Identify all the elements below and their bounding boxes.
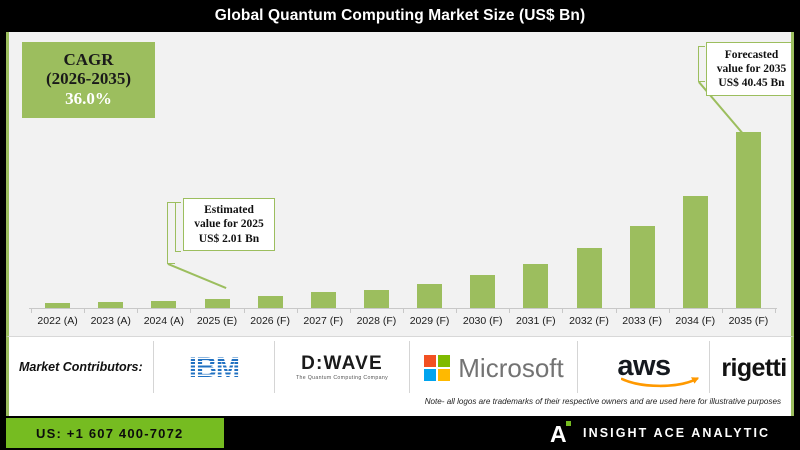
dwave-wordmark: D:WAVE bbox=[296, 354, 388, 373]
logo-dwave: D:WAVE The Quantum Computing Company bbox=[279, 345, 405, 391]
bar-2033 bbox=[630, 226, 655, 308]
x-axis-label-2028: 2028 (F) bbox=[350, 315, 403, 327]
x-axis-label-2029: 2029 (F) bbox=[403, 315, 456, 327]
x-axis-label-2022: 2022 (A) bbox=[31, 315, 84, 327]
x-axis-tick bbox=[297, 308, 298, 313]
chart-panel: 2022 (A)2023 (A)2024 (A)2025 (E)2026 (F)… bbox=[6, 32, 794, 336]
logo-rigetti: rigetti bbox=[715, 345, 793, 391]
title-bar: Global Quantum Computing Market Size (US… bbox=[0, 0, 800, 32]
bar-2029 bbox=[417, 284, 442, 308]
bar-2032 bbox=[577, 248, 602, 308]
microsoft-wordmark: Microsoft bbox=[458, 355, 563, 381]
footer-contact-block: US: +1 607 400-7072 bbox=[6, 418, 224, 448]
divider bbox=[274, 341, 275, 393]
bar-2025 bbox=[205, 299, 230, 308]
x-axis-label-2032: 2032 (F) bbox=[562, 315, 615, 327]
bar-2031 bbox=[523, 264, 548, 308]
divider bbox=[153, 341, 154, 393]
x-axis-tick bbox=[190, 308, 191, 313]
x-axis-tick bbox=[562, 308, 563, 313]
x-axis-tick bbox=[456, 308, 457, 313]
x-axis-tick bbox=[669, 308, 670, 313]
rigetti-wordmark: rigetti bbox=[721, 356, 786, 381]
x-axis-tick bbox=[616, 308, 617, 313]
x-axis-label-2025: 2025 (E) bbox=[190, 315, 243, 327]
insight-ace-a-logo-icon: A bbox=[550, 421, 570, 445]
market-contributors-label: Market Contributors: bbox=[19, 360, 143, 374]
x-axis-label-2035: 2035 (F) bbox=[722, 315, 775, 327]
callout-estimated-line-3: US$ 2.01 Bn bbox=[199, 232, 259, 246]
x-axis-label-2031: 2031 (F) bbox=[509, 315, 562, 327]
bar-2026 bbox=[258, 296, 283, 308]
x-axis-tick bbox=[722, 308, 723, 313]
x-axis-tick bbox=[509, 308, 510, 313]
x-axis-tick bbox=[31, 308, 32, 313]
x-axis-label-2034: 2034 (F) bbox=[669, 315, 722, 327]
ibm-wordmark: IBM bbox=[189, 354, 239, 383]
x-axis-tick bbox=[350, 308, 351, 313]
logo-ibm: IBM bbox=[159, 345, 269, 391]
bar-2030 bbox=[470, 275, 495, 308]
x-axis-label-2030: 2030 (F) bbox=[456, 315, 509, 327]
x-axis-label-2023: 2023 (A) bbox=[84, 315, 137, 327]
cagr-line-2: (2026-2035) bbox=[46, 69, 131, 88]
bar-2034 bbox=[683, 196, 708, 308]
divider bbox=[709, 341, 710, 393]
callout-bracket-outer-2025 bbox=[167, 202, 175, 264]
x-axis-label-2033: 2033 (F) bbox=[616, 315, 669, 327]
market-contributors-band: Market Contributors: IBM D:WAVE The Quan… bbox=[6, 336, 794, 416]
bar-2028 bbox=[364, 290, 389, 308]
callout-bracket-inner-2025 bbox=[175, 202, 181, 252]
aws-swoosh-icon bbox=[621, 376, 703, 388]
bar-2035 bbox=[736, 132, 761, 308]
x-axis-label-2024: 2024 (A) bbox=[137, 315, 190, 327]
callout-forecasted-line-2: value for 2035 bbox=[717, 62, 786, 76]
bar-2024 bbox=[151, 301, 176, 308]
brand-lockup: A INSIGHT ACE ANALYTIC bbox=[550, 416, 770, 450]
x-axis-tick bbox=[244, 308, 245, 313]
callout-estimated-line-2: value for 2025 bbox=[194, 217, 263, 231]
divider bbox=[409, 341, 410, 393]
x-axis-tick bbox=[403, 308, 404, 313]
bar-2023 bbox=[98, 302, 123, 308]
screenshot-root: Global Quantum Computing Market Size (US… bbox=[0, 0, 800, 450]
bar-2022 bbox=[45, 303, 70, 308]
callout-forecasted-line-3: US$ 40.45 Bn bbox=[718, 76, 784, 90]
microsoft-squares-icon bbox=[424, 355, 450, 381]
x-axis-tick bbox=[137, 308, 138, 313]
logo-microsoft: Microsoft bbox=[415, 345, 573, 391]
callout-forecasted-line-1: Forecasted bbox=[725, 48, 778, 62]
cagr-line-1: CAGR bbox=[63, 51, 113, 69]
callout-estimated-line-1: Estimated bbox=[204, 203, 254, 217]
logo-trademark-note: Note- all logos are trademarks of their … bbox=[425, 397, 781, 406]
callout-estimated-2025: Estimated value for 2025 US$ 2.01 Bn bbox=[183, 198, 275, 251]
cagr-value: 36.0% bbox=[65, 89, 112, 109]
callout-forecasted-2035: Forecasted value for 2035 US$ 40.45 Bn bbox=[706, 42, 794, 96]
footer-phone: US: +1 607 400-7072 bbox=[36, 426, 183, 441]
x-axis-label-2027: 2027 (F) bbox=[297, 315, 350, 327]
divider bbox=[577, 341, 578, 393]
brand-name: INSIGHT ACE ANALYTIC bbox=[583, 426, 770, 440]
x-axis-label-2026: 2026 (F) bbox=[244, 315, 297, 327]
x-axis-labels: 2022 (A)2023 (A)2024 (A)2025 (E)2026 (F)… bbox=[9, 315, 791, 336]
x-axis-tick bbox=[775, 308, 776, 313]
logo-aws: aws bbox=[583, 343, 705, 389]
bar-2027 bbox=[311, 292, 336, 308]
footer-bar: US: +1 607 400-7072 A INSIGHT ACE ANALYT… bbox=[0, 416, 800, 450]
dwave-tagline: The Quantum Computing Company bbox=[296, 376, 388, 381]
callout-bracket-2035 bbox=[698, 46, 705, 82]
page-title: Global Quantum Computing Market Size (US… bbox=[215, 7, 586, 25]
x-axis-tick bbox=[84, 308, 85, 313]
cagr-box: CAGR (2026-2035) 36.0% bbox=[22, 42, 155, 118]
